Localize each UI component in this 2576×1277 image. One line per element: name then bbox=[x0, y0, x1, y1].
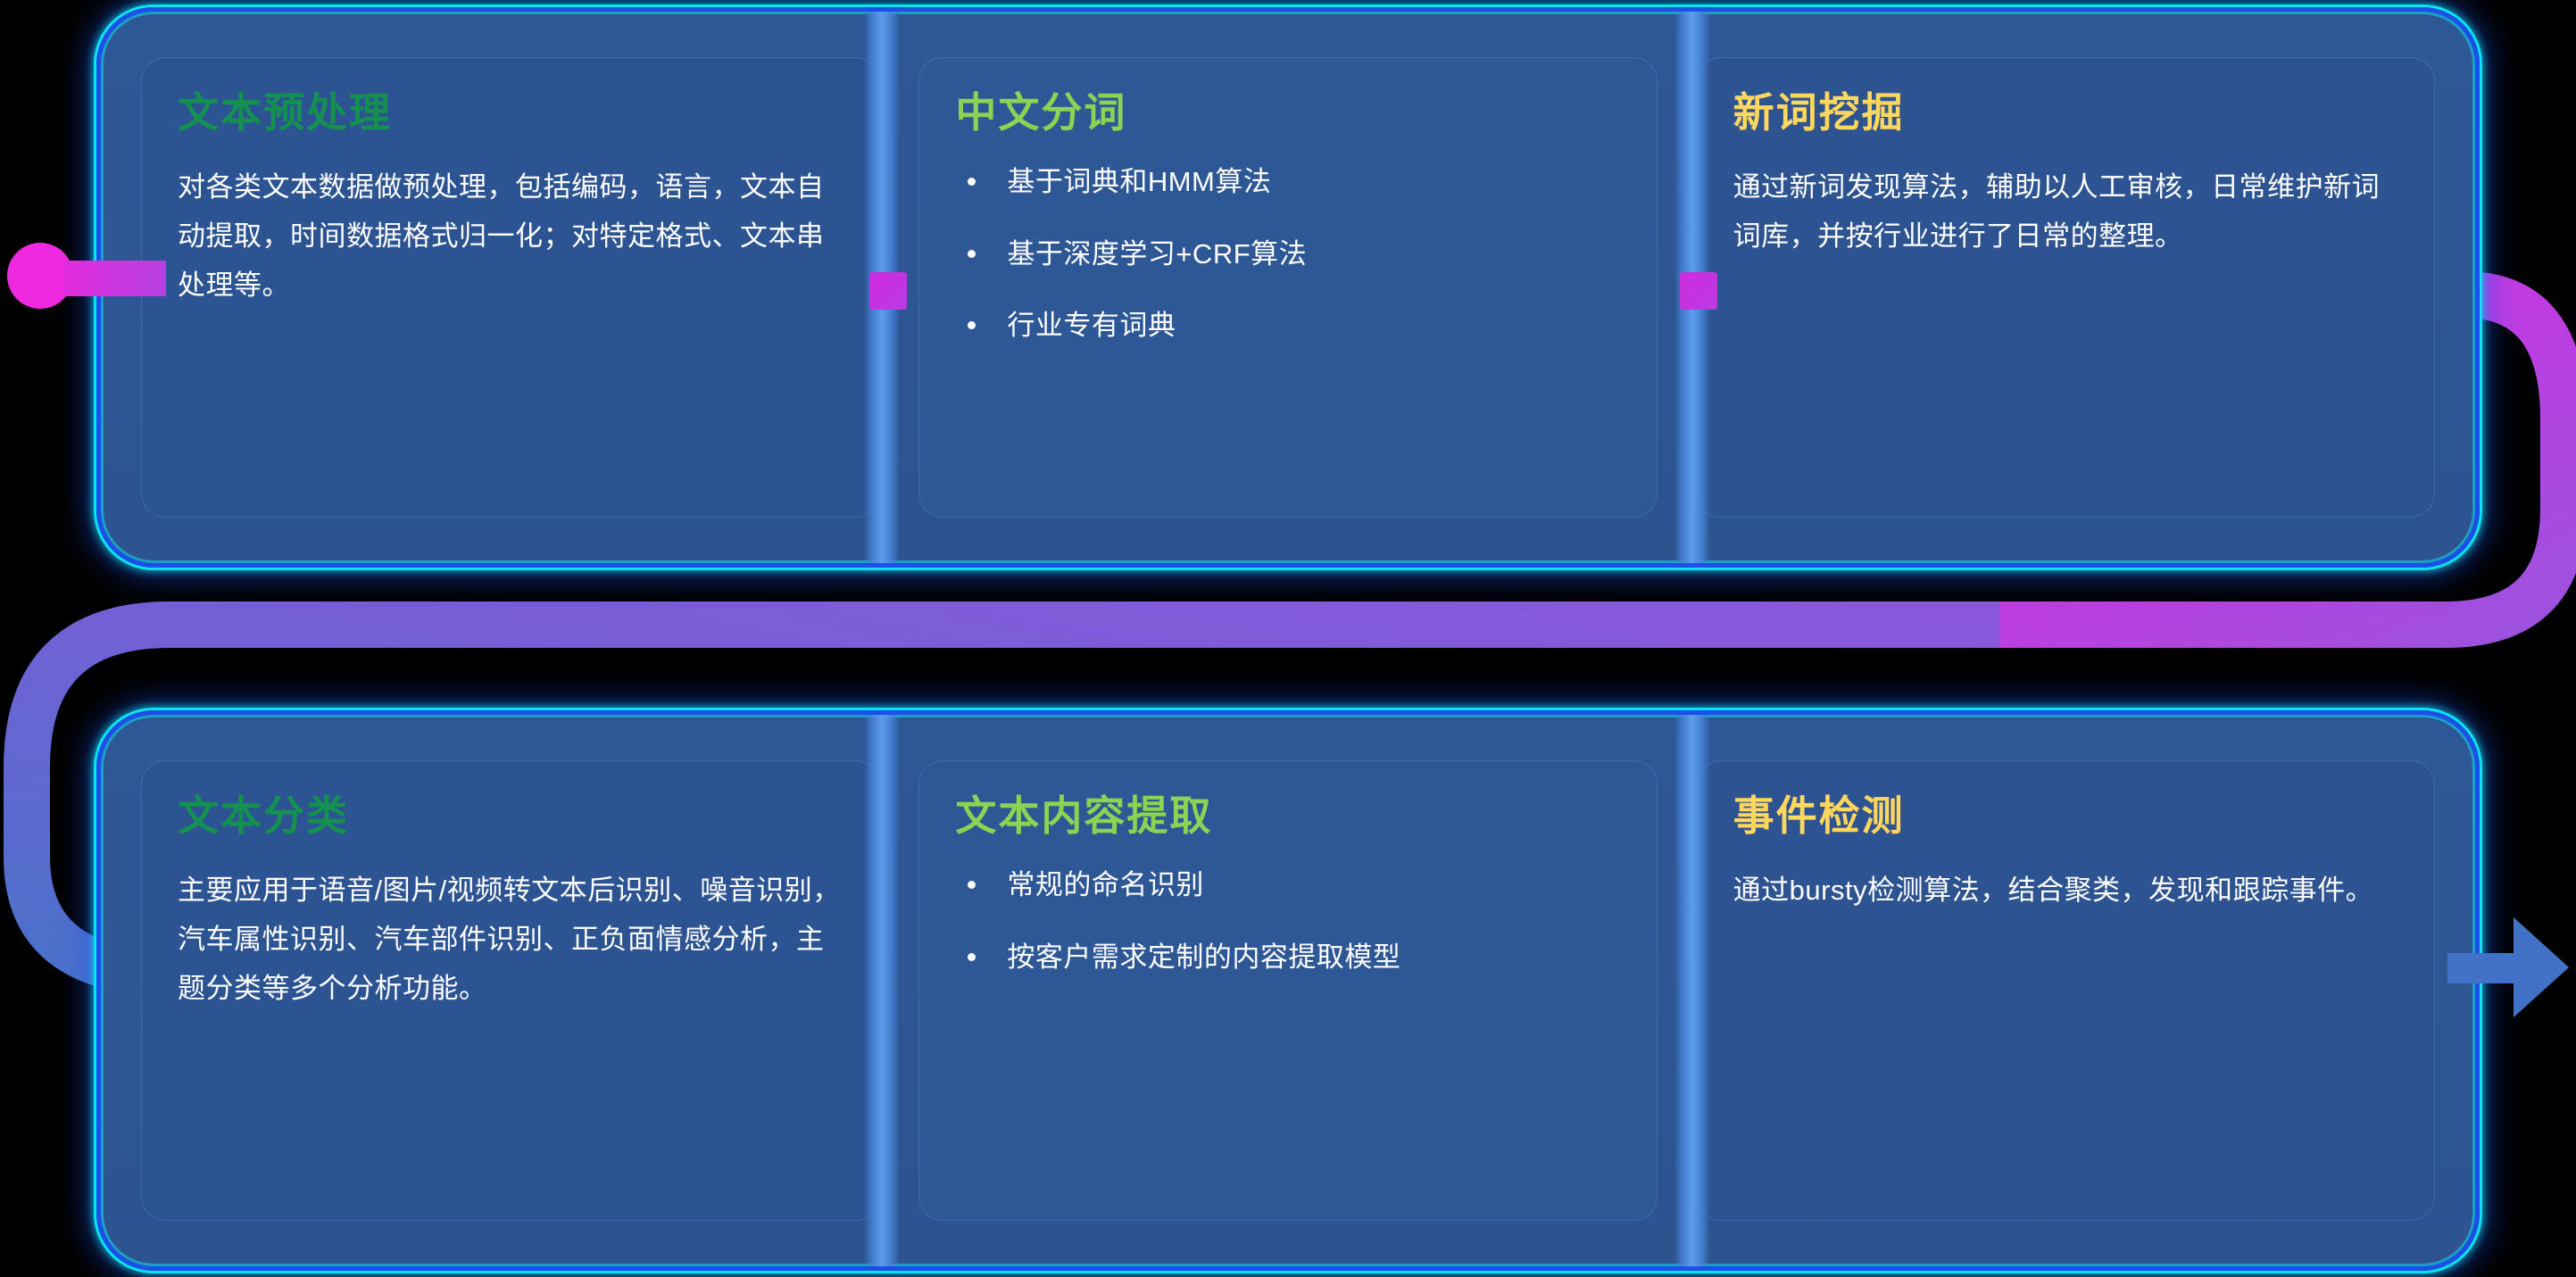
diagram-canvas: 文本预处理 对各类文本数据做预处理，包括编码，语言，文本自动提取，时间数据格式归… bbox=[0, 0, 2576, 1277]
card-body-paragraph: 通过bursty检测算法，结合聚类，发现和跟踪事件。 bbox=[1733, 866, 2398, 915]
card-title: 文本分类 bbox=[178, 793, 843, 839]
card-body-paragraph: 通过新词发现算法，辅助以人工审核，日常维护新词词库，并按行业进行了日常的整理。 bbox=[1733, 162, 2398, 261]
list-item: 按客户需求定制的内容提取模型 bbox=[955, 938, 1620, 978]
card-seam-4 bbox=[1674, 715, 1710, 1266]
list-item: 常规的命名识别 bbox=[955, 866, 1620, 906]
card-chinese-word-segmentation[interactable]: 中文分词 基于词典和HMM算法 基于深度学习+CRF算法 行业专有词典 bbox=[919, 58, 1656, 517]
seam-node-magenta-2 bbox=[1680, 272, 1717, 310]
top-row-group: 文本预处理 对各类文本数据做预处理，包括编码，语言，文本自动提取，时间数据格式归… bbox=[96, 7, 2480, 568]
card-text-preprocessing[interactable]: 文本预处理 对各类文本数据做预处理，包括编码，语言，文本自动提取，时间数据格式归… bbox=[142, 58, 878, 517]
card-title: 文本内容提取 bbox=[955, 793, 1620, 839]
card-seam-3 bbox=[864, 715, 900, 1266]
card-body-paragraph: 对各类文本数据做预处理，包括编码，语言，文本自动提取，时间数据格式归一化；对特定… bbox=[178, 162, 843, 311]
card-new-word-discovery[interactable]: 新词挖掘 通过新词发现算法，辅助以人工审核，日常维护新词词库，并按行业进行了日常… bbox=[1698, 58, 2434, 517]
end-arrow-marker bbox=[2514, 917, 2569, 1017]
list-item: 基于深度学习+CRF算法 bbox=[955, 235, 1620, 275]
card-title: 事件检测 bbox=[1733, 793, 2398, 839]
card-title: 新词挖掘 bbox=[1733, 90, 2398, 136]
card-body-paragraph: 主要应用于语音/图片/视频转文本后识别、噪音识别，汽车属性识别、汽车部件识别、正… bbox=[178, 866, 843, 1014]
end-connector-bar bbox=[2447, 953, 2522, 983]
list-item: 行业专有词典 bbox=[955, 306, 1620, 346]
card-title: 文本预处理 bbox=[178, 90, 843, 136]
seam-node-magenta-1 bbox=[869, 272, 907, 310]
card-text-classification[interactable]: 文本分类 主要应用于语音/图片/视频转文本后识别、噪音识别，汽车属性识别、汽车部… bbox=[142, 761, 878, 1220]
card-text-content-extraction[interactable]: 文本内容提取 常规的命名识别 按客户需求定制的内容提取模型 bbox=[919, 761, 1656, 1220]
card-title: 中文分词 bbox=[955, 90, 1620, 136]
list-item: 基于词典和HMM算法 bbox=[955, 162, 1620, 203]
card-body-bullets: 常规的命名识别 按客户需求定制的内容提取模型 bbox=[955, 866, 1620, 978]
card-body-bullets: 基于词典和HMM算法 基于深度学习+CRF算法 行业专有词典 bbox=[955, 162, 1620, 347]
bottom-row-group: 文本分类 主要应用于语音/图片/视频转文本后识别、噪音识别，汽车属性识别、汽车部… bbox=[96, 710, 2480, 1271]
card-event-detection[interactable]: 事件检测 通过bursty检测算法，结合聚类，发现和跟踪事件。 bbox=[1698, 761, 2434, 1220]
start-connector-bar bbox=[62, 261, 166, 296]
